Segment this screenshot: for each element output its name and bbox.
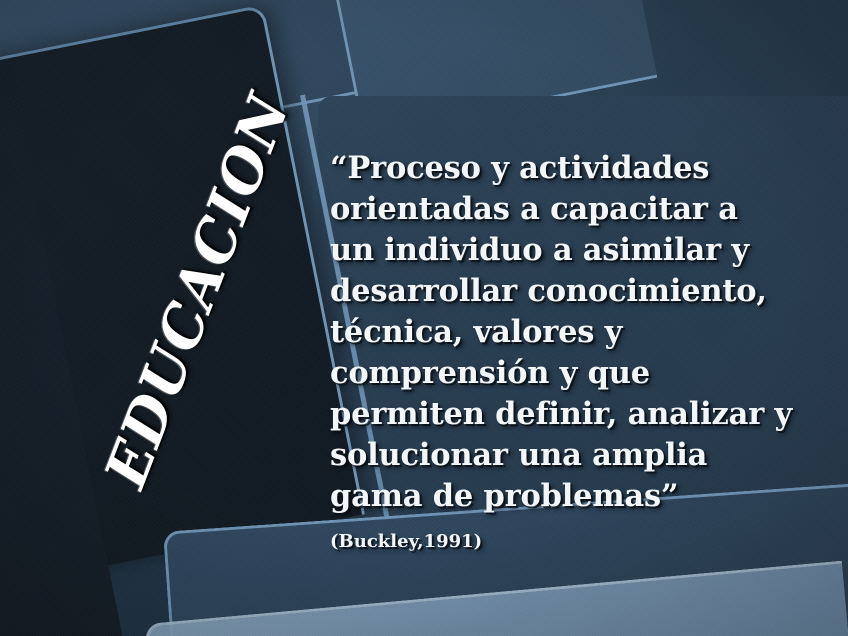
slide-canvas: EDUCACION “Proceso y actividades orienta…	[0, 0, 848, 636]
quote-block: “Proceso y actividades orientadas a capa…	[330, 148, 792, 562]
quote-citation: (Buckley,1991)	[330, 531, 482, 552]
quote-text: “Proceso y actividades orientadas a capa…	[330, 150, 792, 514]
